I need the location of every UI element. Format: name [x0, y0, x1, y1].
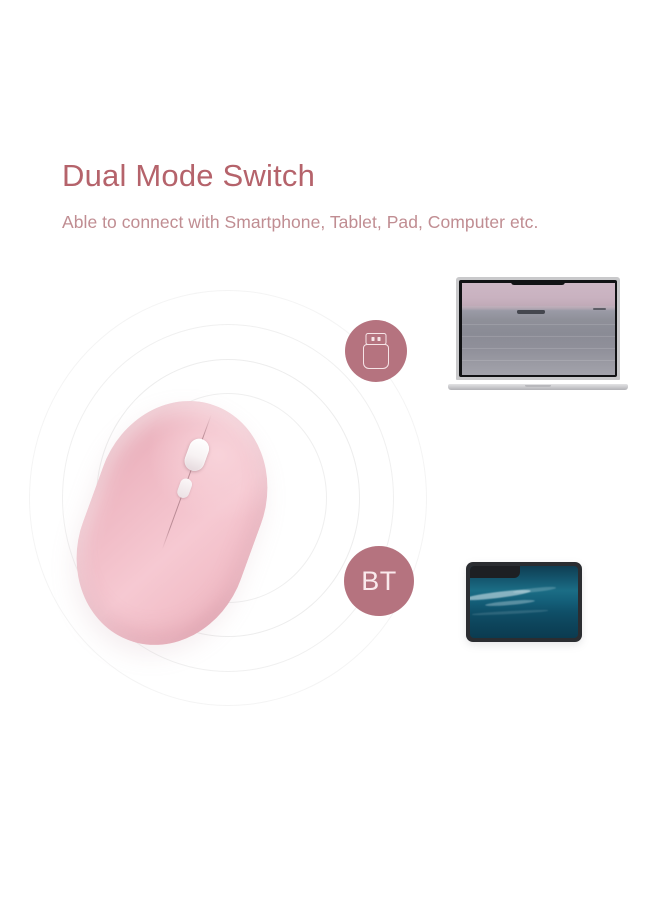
- usb-badge: [345, 320, 407, 382]
- laptop-bezel: [459, 280, 617, 377]
- page-title: Dual Mode Switch: [62, 158, 315, 194]
- laptop-camera-notch: [511, 280, 565, 285]
- usb-pin-right: [378, 337, 381, 340]
- laptop-lid: [456, 277, 620, 380]
- product-feature-banner: Dual Mode Switch Able to connect with Sm…: [0, 0, 660, 900]
- sea-ripple: [462, 348, 615, 349]
- page-subtitle: Able to connect with Smartphone, Tablet,…: [62, 212, 538, 233]
- ship-silhouette: [517, 310, 545, 314]
- bluetooth-badge-label: BT: [361, 568, 397, 595]
- laptop-wallpaper-seascape: [462, 283, 615, 375]
- laptop-device: [448, 277, 628, 390]
- tablet-screen-notch: [470, 566, 520, 578]
- bluetooth-badge: BT: [344, 546, 414, 616]
- wave-crest: [485, 598, 535, 607]
- sea-ripple: [462, 360, 615, 361]
- sea-ripple: [462, 324, 615, 325]
- wave-crest: [513, 585, 556, 593]
- ship-silhouette-distant: [593, 308, 606, 311]
- tablet-device: [466, 562, 582, 642]
- laptop-lid-notch: [525, 385, 551, 387]
- usb-dongle-body: [363, 344, 389, 369]
- tablet-wallpaper-ocean: [470, 566, 578, 638]
- sea-ripple: [462, 336, 615, 337]
- usb-dongle-icon: [361, 333, 391, 369]
- wave-crest: [472, 609, 548, 615]
- usb-pin-left: [371, 337, 374, 340]
